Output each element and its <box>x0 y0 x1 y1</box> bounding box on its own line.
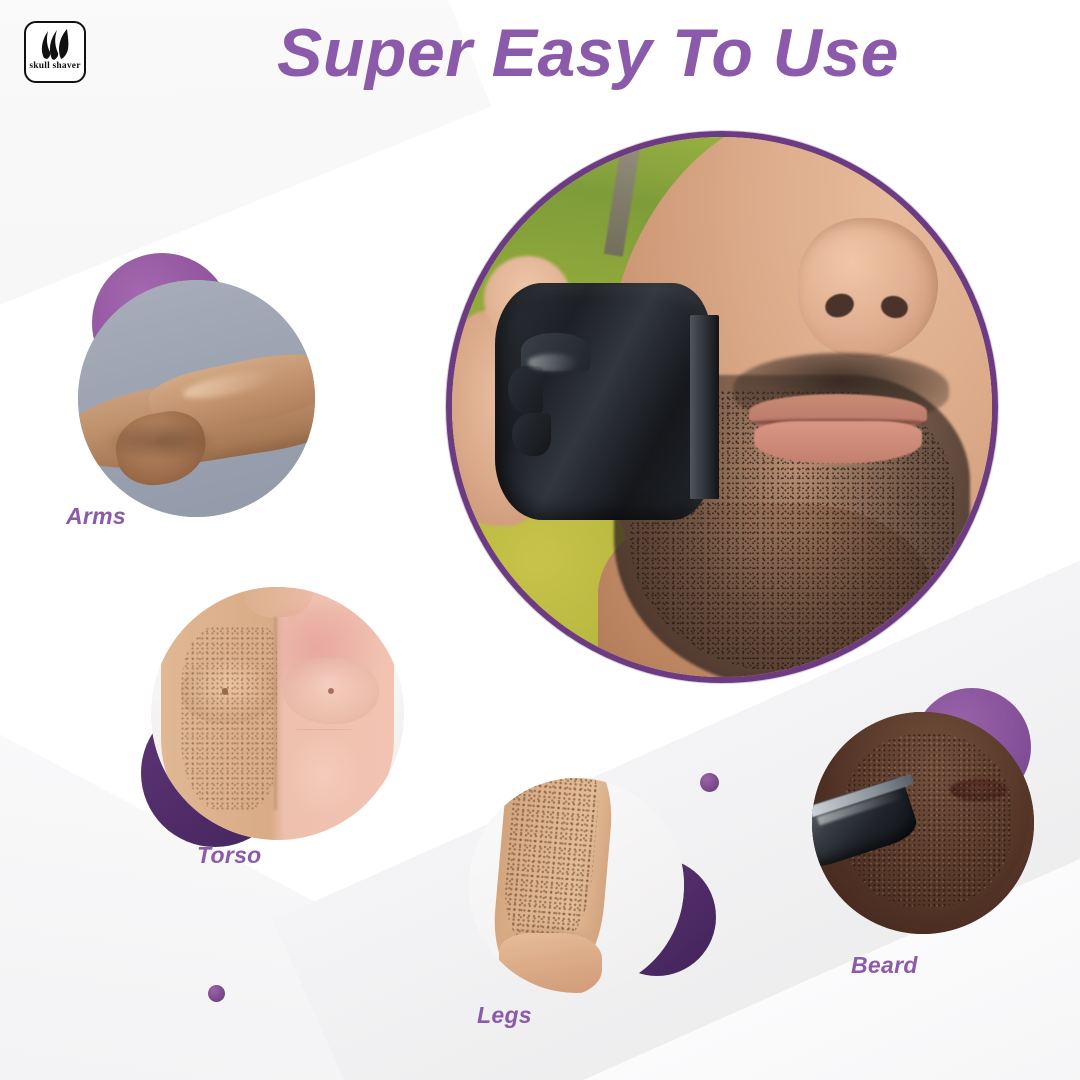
hero-shaver-device <box>495 283 711 521</box>
purple-dot-bottom-left-icon <box>208 985 225 1002</box>
torso-image <box>151 587 404 840</box>
promo-canvas: skull shaver Super Easy To Use <box>0 0 1080 1080</box>
hero-shaver-blade <box>690 315 720 499</box>
torso-chest-hair <box>181 627 277 809</box>
hero-shaver-side-lobe-upper <box>508 366 543 414</box>
hero-scene <box>452 137 992 677</box>
label-arms: Arms <box>66 503 126 530</box>
arms-shadow <box>106 422 215 460</box>
legs-foot <box>499 933 602 993</box>
arms-image <box>78 280 315 517</box>
page-title: Super Easy To Use <box>0 14 1080 92</box>
hero-shaver-highlight <box>528 354 580 371</box>
purple-dot-legs-icon <box>700 773 719 792</box>
legs-image <box>469 778 684 993</box>
torso-center-line <box>274 617 277 809</box>
beard-image <box>812 712 1034 934</box>
label-beard: Beard <box>851 952 918 979</box>
hero-image-beard-shaving <box>446 131 998 683</box>
hero-lower-lip <box>754 421 921 464</box>
label-torso: Torso <box>197 842 262 869</box>
label-legs: Legs <box>477 1002 532 1029</box>
torso-nipple-left <box>222 688 229 695</box>
hero-shaver-side-lobe-lower <box>512 413 551 456</box>
torso-abdomen <box>283 729 364 820</box>
